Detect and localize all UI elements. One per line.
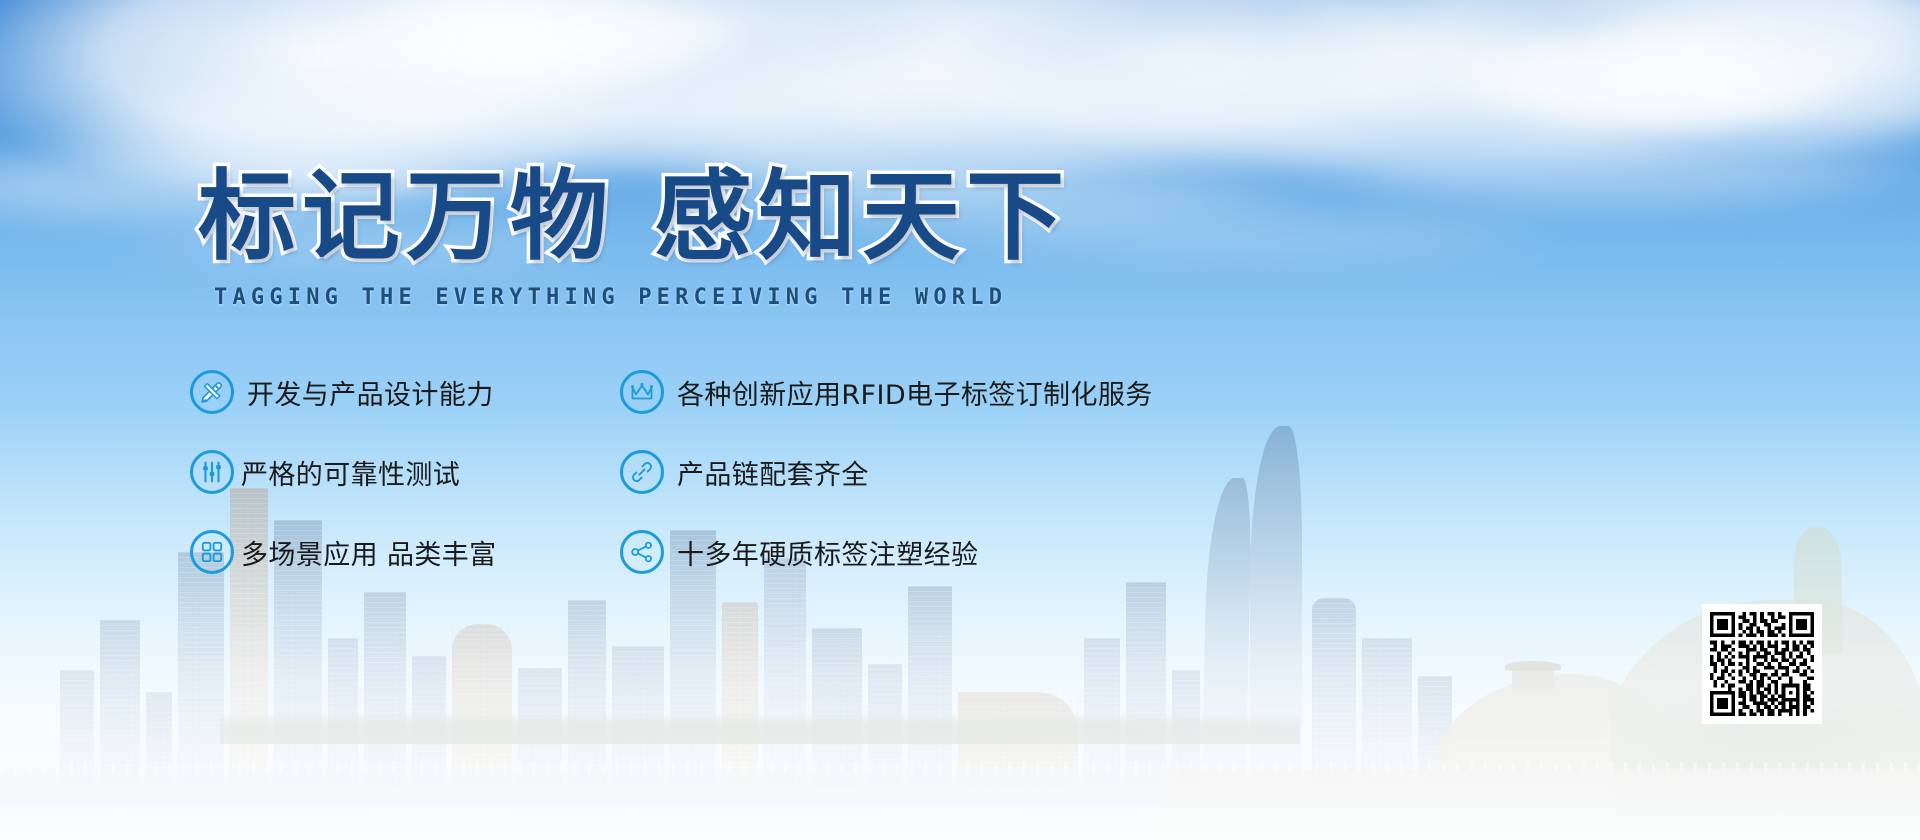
feature-item-design-capability: 开发与产品设计能力	[190, 370, 620, 414]
qr-code[interactable]	[1702, 604, 1822, 724]
feature-item-reliability-testing: 严格的可靠性测试	[190, 450, 620, 494]
feature-item-product-chain: 产品链配套齐全	[620, 450, 1310, 494]
feature-item-multi-scenario: 多场景应用 品类丰富	[190, 530, 620, 574]
grid-squares-icon	[190, 530, 234, 574]
link-chain-icon	[620, 450, 664, 494]
feature-label: 开发与产品设计能力	[247, 373, 494, 412]
crown-icon	[620, 370, 664, 414]
page-subtitle: TAGGING THE EVERYTHING PERCEIVING THE WO…	[214, 285, 1007, 310]
share-network-icon	[620, 530, 664, 574]
ruler-pencil-icon	[190, 370, 234, 414]
feature-item-molding-experience: 十多年硬质标签注塑经验	[620, 530, 1310, 574]
promo-banner: 标记万物 感知天下 TAGGING THE EVERYTHING PERCEIV…	[0, 0, 1920, 840]
qr-code-image	[1710, 612, 1814, 716]
feature-label: 多场景应用 品类丰富	[241, 533, 497, 572]
feature-label: 十多年硬质标签注塑经验	[677, 533, 978, 572]
feature-label: 严格的可靠性测试	[241, 453, 460, 492]
feature-list: 开发与产品设计能力 各种创新应用RFID电子标签订制化服务	[190, 352, 1310, 592]
page-title: 标记万物 感知天下	[198, 168, 1070, 266]
feature-label: 产品链配套齐全	[677, 453, 869, 492]
feature-item-rfid-custom-service: 各种创新应用RFID电子标签订制化服务	[620, 370, 1310, 414]
sliders-icon	[190, 450, 234, 494]
feature-label: 各种创新应用RFID电子标签订制化服务	[677, 373, 1153, 412]
